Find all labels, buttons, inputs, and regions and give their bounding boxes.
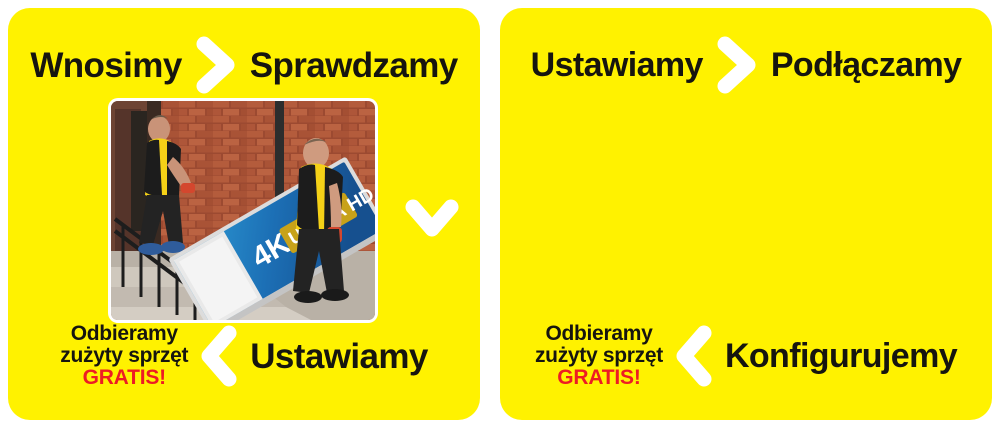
step-label-sprawdzamy: Sprawdzamy [250,48,458,83]
step-label-konfigurujemy: Konfigurujemy [725,339,957,373]
chevron-left-icon [196,325,242,387]
step-label-ustawiamy-top: Ustawiamy [531,48,703,82]
recycling-note-gratis: GRATIS! [60,367,188,389]
chevron-down-icon [404,196,460,246]
tv-delivery-photo: 4K ULTRA HD [111,101,375,320]
recycling-note: Odbieramy zużyty sprzęt GRATIS! [535,323,663,390]
recycling-note: Odbieramy zużyty sprzęt GRATIS! [60,323,188,390]
delivery-bottom-row: Odbieramy zużyty sprzęt GRATIS! Ustawiam… [8,314,480,398]
step-label-podlaczamy: Podłączamy [771,48,962,82]
step-label-ustawiamy: Ustawiamy [250,339,427,374]
installation-top-steps: Ustawiamy Podłączamy [500,34,992,96]
installation-panel: Ustawiamy Podłączamy [500,8,992,420]
delivery-panel: Wnosimy Sprawdzamy [8,8,480,420]
recycling-note-line1: Odbieramy [535,323,663,345]
installation-service-infographic: Wnosimy Sprawdzamy [0,0,1000,429]
recycling-note-line2: zużyty sprzęt [535,345,663,367]
chevron-right-icon [194,36,238,94]
recycling-note-line2: zużyty sprzęt [60,345,188,367]
tv-delivery-illustration: 4K ULTRA HD [111,101,375,320]
delivery-top-steps: Wnosimy Sprawdzamy [8,34,480,96]
step-label-wnosimy: Wnosimy [30,48,181,83]
recycling-note-line1: Odbieramy [60,323,188,345]
installation-bottom-row: Odbieramy zużyty sprzęt GRATIS! Konfigur… [500,314,992,398]
recycling-note-gratis: GRATIS! [535,367,663,389]
chevron-left-icon [671,325,717,387]
chevron-right-icon [715,36,759,94]
